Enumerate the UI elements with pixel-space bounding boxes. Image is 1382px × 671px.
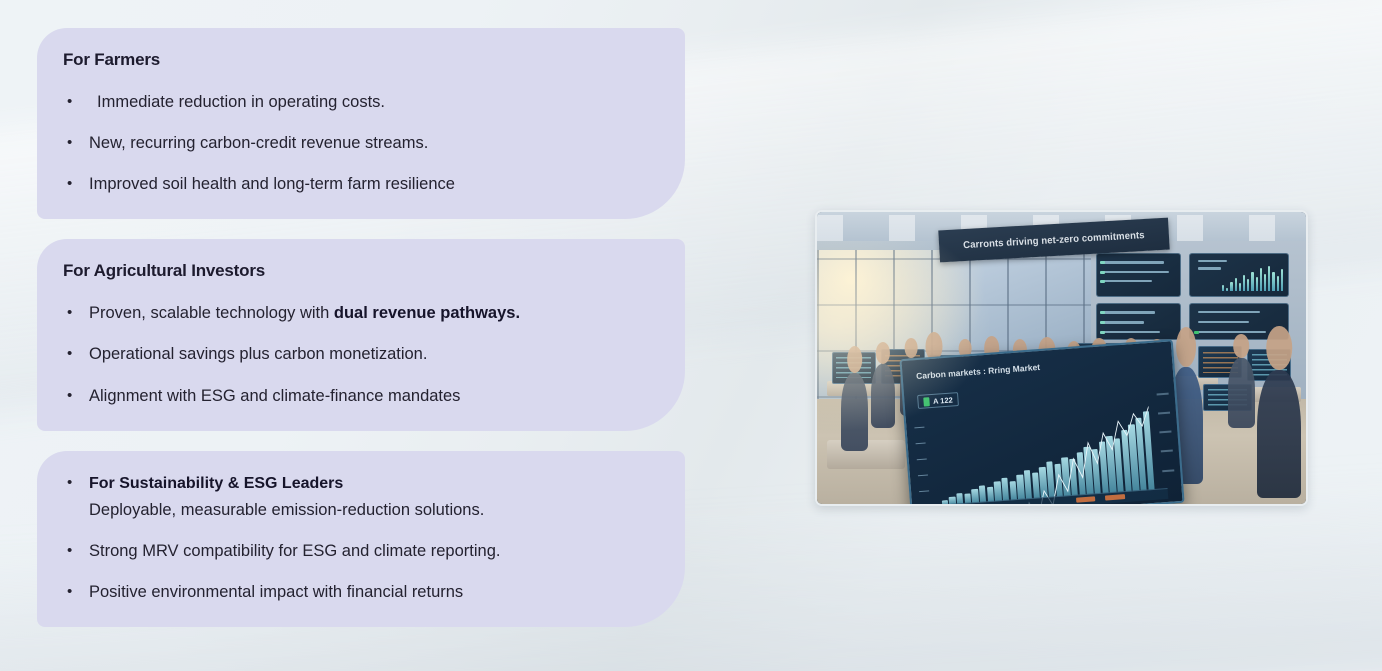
wall-swatch: [1100, 280, 1105, 283]
wall-text-line: [1103, 280, 1151, 283]
bullet-icon: •: [63, 303, 89, 323]
list-item: • Positive environmental impact with fin…: [63, 582, 659, 603]
bullet-icon: •: [63, 582, 89, 602]
list-item-subtext: Deployable, measurable emission-reductio…: [89, 500, 659, 521]
wall-panel-growth-chart: [1189, 253, 1289, 297]
list-item-text-emphasis: dual revenue pathways.: [334, 304, 520, 322]
list-item: • Strong MRV compatibility for ESG and c…: [63, 541, 659, 562]
person: [1228, 358, 1255, 428]
list-item-text: New, recurring carbon-credit revenue str…: [89, 133, 659, 154]
wall-text-line: [1103, 331, 1160, 334]
person: [841, 373, 868, 452]
wall-swatch: [1194, 331, 1200, 334]
wall-swatch: [1100, 321, 1105, 324]
wall-text-line: [1198, 311, 1261, 314]
wall-text-line: [1198, 331, 1267, 334]
wall-swatch: [1100, 311, 1105, 314]
list-item-text: Improved soil health and long-term farm …: [89, 174, 659, 195]
bullet-icon: •: [63, 473, 89, 493]
trading-floor-illustration: Carronts driving net-zero commitments Ca…: [815, 210, 1308, 506]
list-item: • Operational savings plus carbon moneti…: [63, 344, 659, 365]
card-heading-investors: For Agricultural Investors: [63, 261, 659, 281]
benefits-card-column: For Farmers • Immediate reduction in ope…: [37, 28, 685, 647]
bullet-list-investors: • Proven, scalable technology with dual …: [63, 303, 659, 406]
wall-text-line: [1198, 267, 1222, 270]
chart-board-badge: A 122: [918, 392, 960, 409]
ticker-chip: [1076, 496, 1096, 502]
bullet-list-sustainability: • For Sustainability & ESG Leaders Deplo…: [63, 473, 659, 604]
hanging-banner-text: Carronts driving net-zero commitments: [963, 229, 1145, 251]
wall-text-line: [1103, 321, 1143, 324]
benefit-card-investors: For Agricultural Investors • Proven, sca…: [37, 239, 685, 430]
chart-board-title: Carbon markets : Rring Market: [916, 362, 1041, 381]
carbon-market-chart-board: Carbon markets : Rring Market A 122: [899, 339, 1184, 506]
person: [1257, 370, 1301, 498]
bullet-icon: •: [63, 92, 89, 112]
list-item-text: For Sustainability & ESG Leaders Deploya…: [89, 473, 659, 522]
list-item: • Alignment with ESG and climate-finance…: [63, 386, 659, 407]
wall-bar-chart: [1222, 265, 1283, 291]
badge-swatch-icon: [924, 397, 931, 406]
list-item-text: Operational savings plus carbon monetiza…: [89, 344, 659, 365]
wall-text-line: [1103, 271, 1168, 274]
list-item: • New, recurring carbon-credit revenue s…: [63, 133, 659, 154]
wall-swatch: [1100, 271, 1105, 274]
wall-swatch: [1100, 331, 1105, 334]
bullet-icon: •: [63, 541, 89, 561]
list-item: • Improved soil health and long-term far…: [63, 174, 659, 195]
wall-text-line: [1198, 260, 1227, 263]
bullet-icon: •: [63, 386, 89, 406]
list-item-text: Proven, scalable technology with dual re…: [89, 303, 659, 324]
benefit-card-farmers: For Farmers • Immediate reduction in ope…: [37, 28, 685, 219]
list-item-text: Strong MRV compatibility for ESG and cli…: [89, 541, 659, 562]
list-item-text-lead: Proven, scalable technology with: [89, 304, 334, 322]
wall-panel-baseline: [1096, 253, 1182, 297]
wall-text-line: [1198, 321, 1249, 324]
list-item-title: For Sustainability & ESG Leaders: [89, 475, 343, 492]
wall-panel-metrics: [1096, 303, 1182, 341]
ticker-chip: [1105, 494, 1125, 500]
bullet-icon: •: [63, 174, 89, 194]
wall-swatch: [1100, 261, 1105, 264]
wall-text-line: [1103, 311, 1155, 314]
card-heading-farmers: For Farmers: [63, 50, 659, 70]
list-item: • For Sustainability & ESG Leaders Deplo…: [63, 473, 659, 522]
person: [871, 364, 895, 428]
badge-label: A 122: [933, 395, 953, 405]
list-item-text: Positive environmental impact with finan…: [89, 582, 659, 603]
list-item: • Immediate reduction in operating costs…: [63, 92, 659, 113]
bullet-icon: •: [63, 344, 89, 364]
bullet-icon: •: [63, 133, 89, 153]
list-item-text: Alignment with ESG and climate-finance m…: [89, 386, 659, 407]
bullet-list-farmers: • Immediate reduction in operating costs…: [63, 92, 659, 195]
benefit-card-sustainability: • For Sustainability & ESG Leaders Deplo…: [37, 451, 685, 628]
list-item: • Proven, scalable technology with dual …: [63, 303, 659, 324]
wall-text-line: [1103, 261, 1163, 264]
list-item-text: Immediate reduction in operating costs.: [89, 92, 659, 113]
